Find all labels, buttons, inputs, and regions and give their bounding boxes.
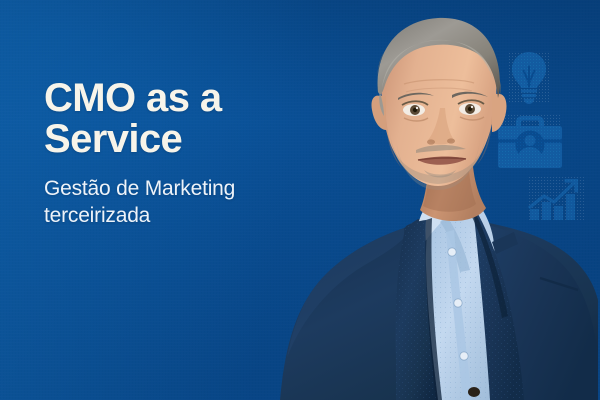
banner-subheadline: Gestão de Marketingterceirizada <box>44 176 304 229</box>
banner-headline: CMO as aService <box>44 78 304 160</box>
headline-line2: Service <box>44 117 182 161</box>
headline-word-cmo: CMO <box>44 76 136 120</box>
headline-rest-line1: as a <box>136 76 222 120</box>
banner-copy: CMO as aService Gestão de Marketingterce… <box>44 78 304 229</box>
subhead-line2: terceirizada <box>44 204 150 227</box>
cmo-as-a-service-banner: CMO as aService Gestão de Marketingterce… <box>0 0 600 400</box>
businessman-portrait <box>278 0 600 400</box>
subhead-line1: Gestão de Marketing <box>44 177 235 200</box>
